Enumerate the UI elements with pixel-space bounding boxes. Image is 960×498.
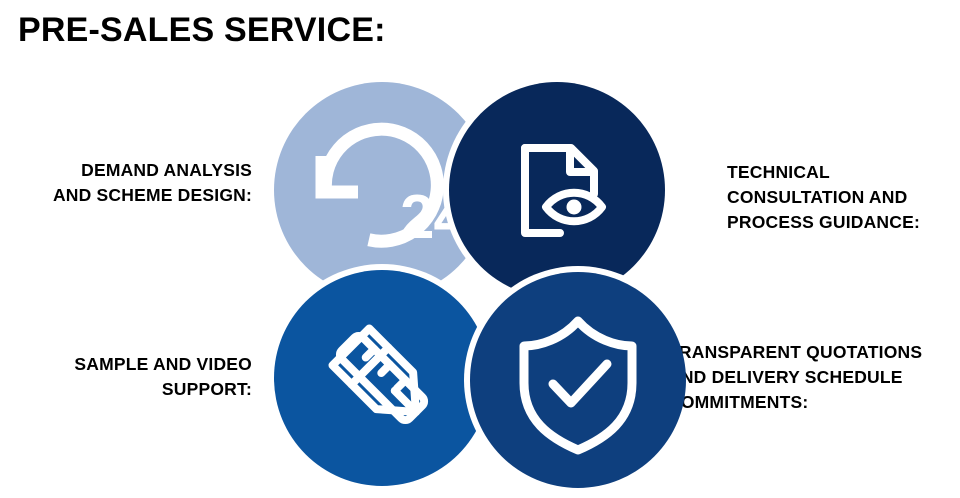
circle-cluster: 24	[260, 78, 680, 488]
label-demand-analysis: DEMAND ANALYSIS AND SCHEME DESIGN:	[0, 158, 252, 208]
circle-transparent-quotations[interactable]	[470, 272, 686, 488]
label-sample-and-video-support: SAMPLE AND VIDEO SUPPORT:	[0, 352, 252, 402]
circle-sample-video-support[interactable]	[274, 270, 490, 486]
circle-transparent-quotations-shape	[470, 272, 686, 488]
page-title: PRE-SALES SERVICE:	[18, 8, 386, 52]
circle-technical-consultation[interactable]	[449, 82, 665, 298]
circle-sample-video-support-shape	[274, 270, 490, 486]
label-technical-consultation: TECHNICAL CONSULTATION AND PROCESS GUIDA…	[727, 160, 960, 235]
circle-technical-consultation-shape	[449, 82, 665, 298]
label-transparent-quotations: TRANSPARENT QUOTATIONS AND DELIVERY SCHE…	[668, 340, 960, 415]
